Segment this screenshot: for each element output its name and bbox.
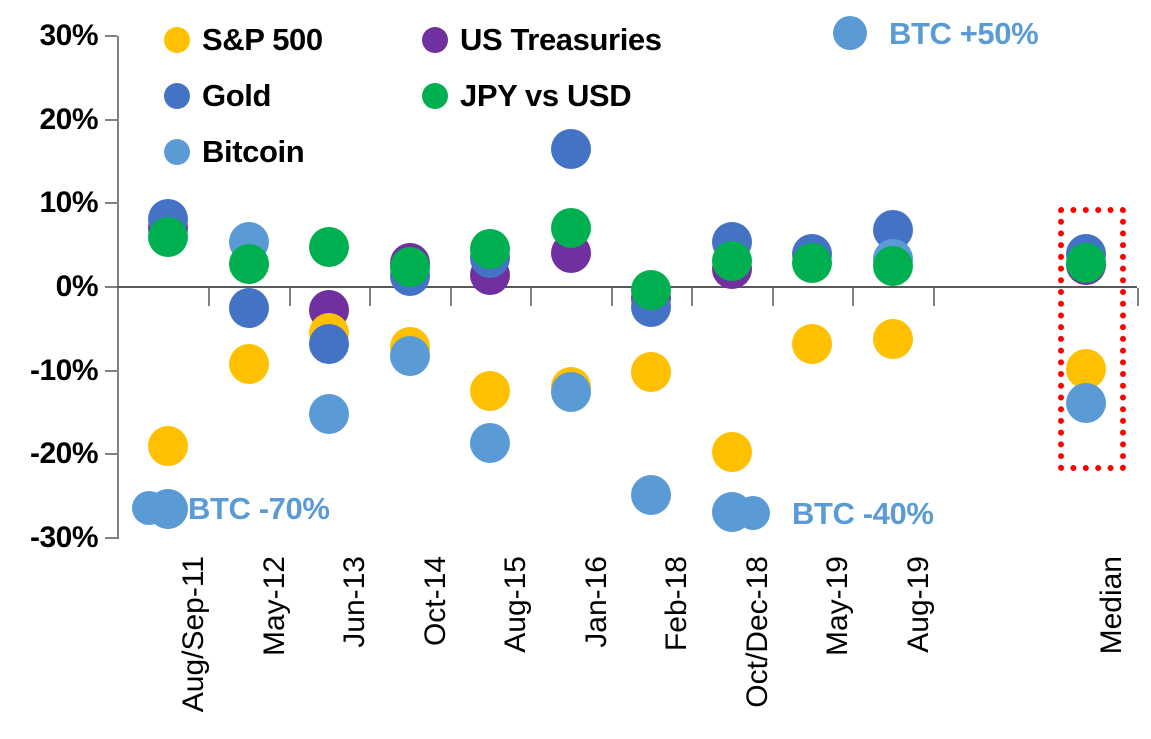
- data-point: [1066, 383, 1106, 423]
- x-axis-tick: [450, 288, 452, 306]
- data-point: [309, 324, 349, 364]
- legend-label-gold: Gold: [202, 80, 271, 111]
- x-axis-label: Jan-16: [582, 556, 612, 648]
- legend-item-bitcoin[interactable]: Bitcoin: [164, 136, 304, 167]
- y-axis-tick: [105, 453, 117, 455]
- legend-swatch-bitcoin: [164, 139, 190, 165]
- y-axis-tick-label: 10%: [39, 188, 98, 218]
- annotation-label-btc-minus-40: BTC -40%: [792, 498, 934, 529]
- x-axis-tick: [852, 288, 854, 306]
- y-axis-tick: [105, 286, 117, 288]
- annotation-marker-icon: [736, 496, 770, 530]
- data-point: [792, 243, 832, 283]
- x-axis-label: Median: [1097, 556, 1127, 654]
- x-axis-tick: [530, 288, 532, 306]
- data-point: [470, 423, 510, 463]
- x-axis-label: Oct/Dec-18: [743, 556, 773, 708]
- data-point: [631, 352, 671, 392]
- data-point: [631, 475, 671, 515]
- x-axis-label: Feb-18: [662, 556, 692, 651]
- data-point: [551, 372, 591, 412]
- x-axis-label: May-19: [823, 556, 853, 656]
- annotation-marker-icon: [132, 491, 166, 525]
- data-point: [229, 244, 269, 284]
- x-axis-label: Jun-13: [340, 556, 370, 648]
- x-axis-label: May-12: [260, 556, 290, 656]
- data-point: [390, 247, 430, 287]
- data-point: [390, 336, 430, 376]
- annotation-marker-icon: [833, 16, 867, 50]
- legend-swatch-gold: [164, 83, 190, 109]
- annotation-btc-minus-40: BTC -40%: [736, 496, 934, 530]
- data-point: [148, 426, 188, 466]
- y-axis-tick-label: -20%: [30, 439, 98, 469]
- annotation-label-btc-minus-70: BTC -70%: [188, 493, 330, 524]
- data-point: [229, 288, 269, 328]
- y-axis-tick: [105, 537, 117, 539]
- x-axis-tick: [772, 288, 774, 306]
- annotation-btc-minus-70: BTC -70%: [132, 491, 330, 525]
- data-point: [470, 371, 510, 411]
- data-point: [148, 217, 188, 257]
- legend-item-sp500[interactable]: S&P 500: [164, 24, 323, 55]
- y-axis-tick-label: -30%: [30, 523, 98, 553]
- chart-container: 30%20%10%0%-10%-20%-30% Aug/Sep-11May-12…: [0, 0, 1151, 739]
- x-axis-tick: [933, 288, 935, 306]
- x-axis-label: Aug-15: [501, 556, 531, 653]
- x-axis-tick: [208, 288, 210, 306]
- legend-label-sp500: S&P 500: [202, 24, 323, 55]
- annotation-btc-plus-50: BTC +50%: [833, 16, 1038, 50]
- x-axis-tick: [1137, 288, 1139, 306]
- legend-swatch-us-treasuries: [422, 27, 448, 53]
- data-point: [470, 229, 510, 269]
- x-axis-tick: [369, 288, 371, 306]
- y-axis-tick: [105, 370, 117, 372]
- y-axis-tick-label: 0%: [56, 272, 98, 302]
- legend-swatch-jpy-vs-usd: [422, 83, 448, 109]
- legend-item-us-treasuries[interactable]: US Treasuries: [422, 24, 662, 55]
- legend-swatch-sp500: [164, 27, 190, 53]
- legend-item-gold[interactable]: Gold: [164, 80, 271, 111]
- x-axis-label: Aug-19: [904, 556, 934, 653]
- data-point: [631, 270, 671, 310]
- x-axis-label: Aug/Sep-11: [179, 556, 209, 712]
- x-axis-label: Oct-14: [421, 556, 451, 646]
- data-point: [1066, 243, 1106, 283]
- legend-label-bitcoin: Bitcoin: [202, 136, 304, 167]
- zero-baseline: [117, 286, 1137, 288]
- legend-label-us-treasuries: US Treasuries: [460, 24, 662, 55]
- data-point: [309, 227, 349, 267]
- x-axis-tick: [611, 288, 613, 306]
- data-point: [712, 241, 752, 281]
- data-point: [873, 319, 913, 359]
- annotation-label-btc-plus-50: BTC +50%: [889, 18, 1038, 49]
- data-point: [551, 208, 591, 248]
- legend-item-jpy-vs-usd[interactable]: JPY vs USD: [422, 80, 631, 111]
- x-axis-tick: [289, 288, 291, 306]
- data-point: [229, 344, 269, 384]
- data-point: [873, 246, 913, 286]
- data-point: [712, 432, 752, 472]
- data-point: [792, 324, 832, 364]
- legend-label-jpy-vs-usd: JPY vs USD: [460, 80, 631, 111]
- data-point: [309, 394, 349, 434]
- x-axis-tick: [691, 288, 693, 306]
- y-axis-tick: [105, 202, 117, 204]
- y-axis-tick-label: -10%: [30, 356, 98, 386]
